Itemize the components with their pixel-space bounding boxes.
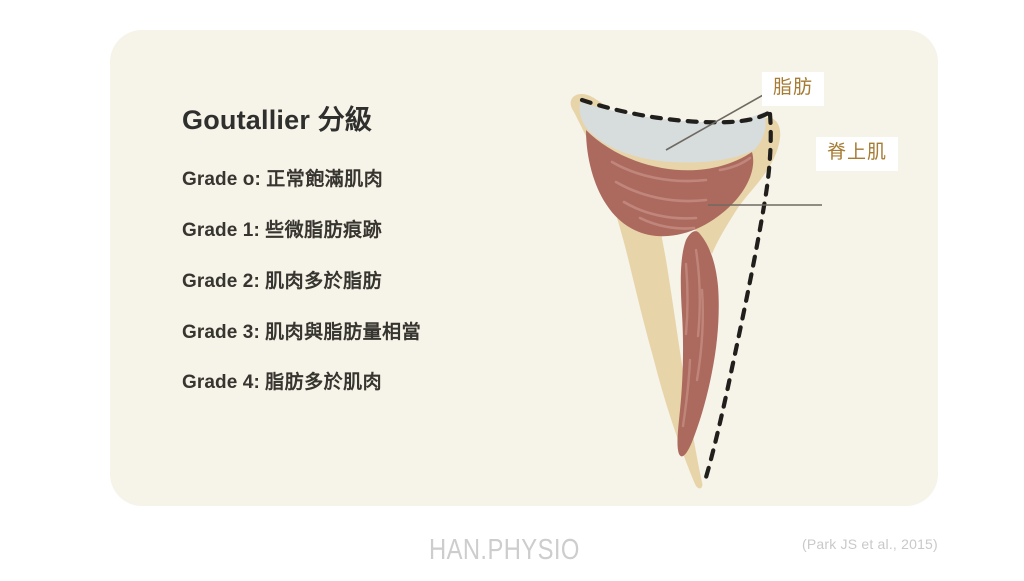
grade-label: Grade 2: [182, 271, 260, 292]
grade-label: Grade o: [182, 169, 261, 190]
grade-description: 肌肉多於脂肪 [265, 271, 382, 292]
grade-label: Grade 1: [182, 220, 260, 241]
source-citation: (Park JS et al., 2015) [802, 536, 938, 552]
grade-description: 正常飽滿肌肉 [266, 169, 383, 190]
grade-description: 些微脂肪痕跡 [265, 220, 382, 241]
anatomy-illustration [520, 50, 960, 510]
brand-watermark: HAN.PHYSIO [429, 534, 580, 567]
callout-label-fat: 脂肪 [762, 72, 824, 106]
grade-description: 肌肉與脂肪量相當 [265, 322, 421, 343]
grade-label: Grade 4: [182, 372, 260, 393]
grade-label: Grade 3: [182, 322, 260, 343]
callout-label-supraspinatus: 脊上肌 [816, 137, 898, 171]
grade-description: 脂肪多於肌肉 [265, 372, 382, 393]
